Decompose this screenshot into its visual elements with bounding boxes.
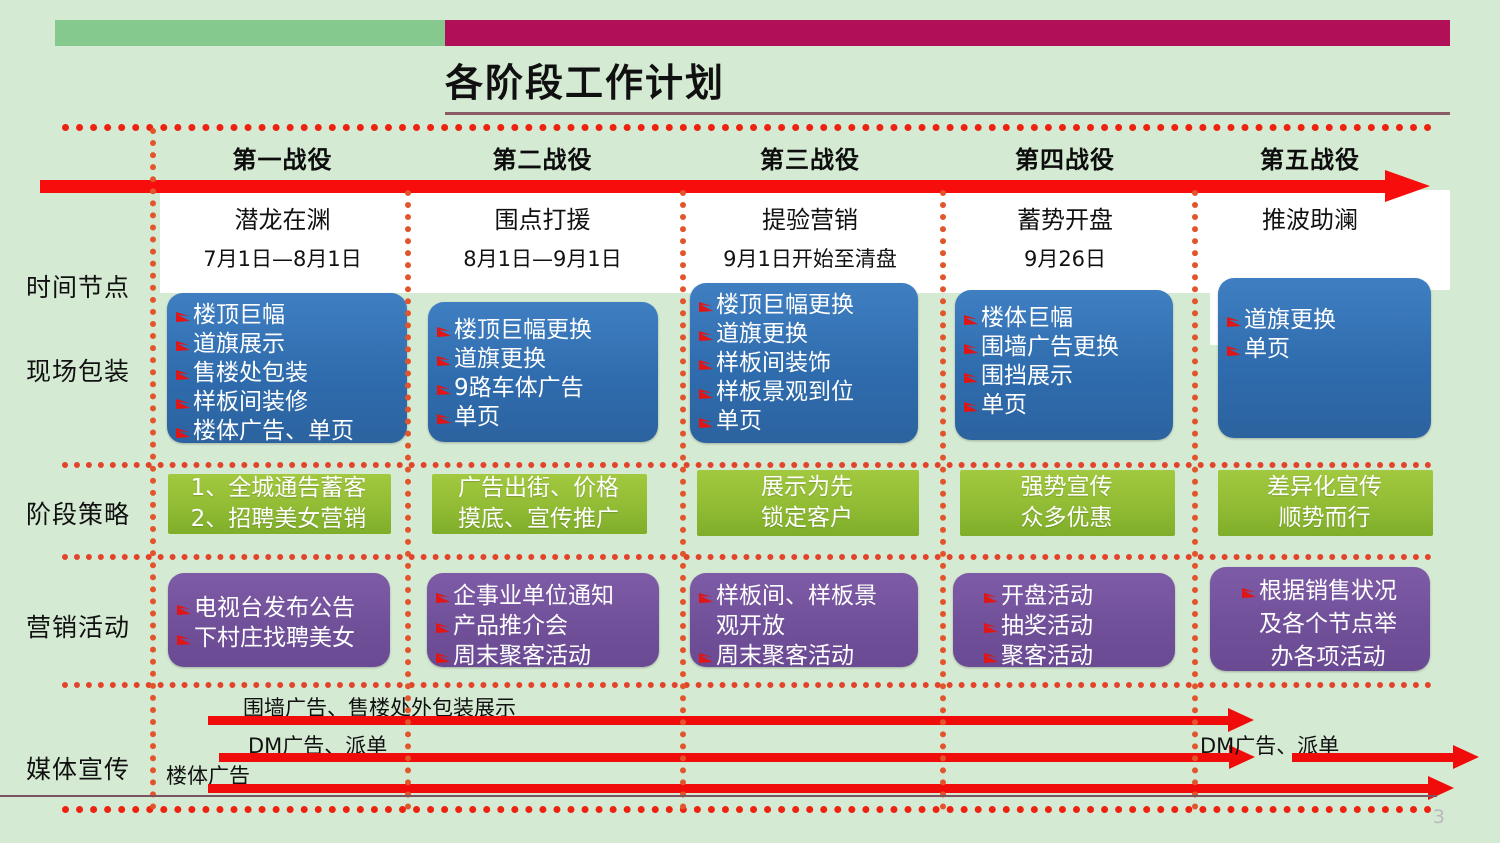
media-arrow-2-shaft <box>219 753 1231 762</box>
packaging-card-5[interactable]: 道旗更换 单页 <box>1218 278 1431 438</box>
page-title: 各阶段工作计划 <box>445 58 1065 110</box>
list-item: 道旗更换 <box>1226 306 1421 335</box>
column-separator-1 <box>405 190 411 810</box>
list-item: 单页 <box>1226 335 1421 364</box>
activities-card-4[interactable]: 开盘活动 抽奖活动 聚客活动 <box>953 573 1175 667</box>
list-item: 围墙广告更换 <box>963 333 1163 362</box>
arrow-bullet-icon <box>435 591 452 604</box>
list-item: 周末聚客活动 <box>698 641 908 671</box>
phase-header-5: 第五战役 <box>1190 140 1430 175</box>
list-item: 售楼处包装 <box>175 359 397 388</box>
phase-date-4: 9月26日 <box>940 243 1190 273</box>
arrow-bullet-icon <box>175 426 192 439</box>
row-label-activities: 营销活动 <box>8 608 148 644</box>
arrow-bullet-icon <box>983 621 1000 634</box>
matrix-top-border <box>62 124 1432 131</box>
media-arrow-3-shaft <box>208 784 1430 793</box>
list-item: 围挡展示 <box>963 362 1163 391</box>
list-item: 样板间、样板景 <box>698 581 908 611</box>
media-arrow-4-head <box>1453 745 1479 769</box>
divider-packaging-strategy <box>62 462 1432 468</box>
arrow-bullet-icon <box>176 633 193 646</box>
list-item: 楼体广告、单页 <box>175 417 397 446</box>
column-separator-3 <box>940 190 946 810</box>
arrow-bullet-icon <box>698 416 715 429</box>
strategy-line: 1、全城通告蓄客 <box>191 473 367 504</box>
list-item: 楼顶巨幅更换 <box>436 316 648 345</box>
arrow-bullet-icon <box>175 397 192 410</box>
arrow-bullet-icon <box>436 325 453 338</box>
phase-header-1: 第一战役 <box>160 140 405 175</box>
arrow-bullet-icon <box>436 412 453 425</box>
arrow-bullet-icon <box>175 339 192 352</box>
arrow-bullet-icon <box>436 383 453 396</box>
list-item: 楼体巨幅 <box>963 304 1163 333</box>
phase-header-4: 第四战役 <box>940 140 1190 175</box>
column-separator-4 <box>1192 190 1198 810</box>
media-arrow-1-shaft <box>208 716 1230 725</box>
strategy-line: 摸底、宣传推广 <box>458 504 619 535</box>
arrow-bullet-icon <box>698 651 715 664</box>
strategy-line: 顺势而行 <box>1279 503 1371 534</box>
arrow-bullet-icon <box>963 342 980 355</box>
list-item: 电视台发布公告 <box>176 593 380 623</box>
strategy-line: 强势宣传 <box>1021 472 1113 503</box>
timeline-arrow <box>40 176 1430 196</box>
arrow-bullet-icon <box>963 371 980 384</box>
arrow-bullet-icon <box>698 591 715 604</box>
title-underline <box>445 112 1450 115</box>
list-item: 周末聚客活动 <box>435 641 649 671</box>
row-label-packaging: 现场包装 <box>8 352 148 388</box>
strategy-line: 2、招聘美女营销 <box>191 504 367 535</box>
arrow-bullet-icon <box>698 358 715 371</box>
timeline-arrow-shaft <box>40 180 1390 193</box>
list-item: 样板间装修 <box>175 388 397 417</box>
list-item: 办各项活动 <box>1218 641 1420 674</box>
arrow-bullet-icon <box>175 368 192 381</box>
phase-date-3: 9月1日开始至清盘 <box>672 243 948 273</box>
arrow-bullet-icon <box>698 300 715 313</box>
row-label-time: 时间节点 <box>8 268 148 304</box>
strategy-card-1[interactable]: 1、全城通告蓄客 2、招聘美女营销 <box>168 474 391 534</box>
media-arrow-1-head <box>1228 708 1254 732</box>
matrix-bottom-border <box>62 806 1432 813</box>
column-separator-2 <box>680 190 686 810</box>
column-separator-0 <box>150 128 156 810</box>
list-item: 聚客活动 <box>983 641 1165 671</box>
arrow-bullet-icon <box>1241 586 1258 599</box>
arrow-bullet-icon <box>963 400 980 413</box>
packaging-card-1[interactable]: 楼顶巨幅 道旗展示 售楼处包装 样板间装修 楼体广告、单页 <box>167 293 407 443</box>
list-item: 楼顶巨幅更换 <box>698 291 908 320</box>
arrow-bullet-icon <box>698 329 715 342</box>
list-item: 产品推介会 <box>435 611 649 641</box>
footer-rule <box>0 795 1437 797</box>
phase-title-4: 蓄势开盘 <box>940 200 1190 235</box>
list-item: 及各个节点举 <box>1218 608 1420 641</box>
packaging-card-4[interactable]: 楼体巨幅 围墙广告更换 围挡展示 单页 <box>955 290 1173 440</box>
list-item: 样板间装饰 <box>698 349 908 378</box>
strategy-line: 广告出街、价格 <box>458 473 619 504</box>
arrow-bullet-icon <box>983 651 1000 664</box>
phase-date-1: 7月1日—8月1日 <box>160 243 405 273</box>
list-item: 根据销售状况 <box>1218 575 1420 608</box>
top-bar-green <box>55 20 445 46</box>
strategy-line: 众多优惠 <box>1021 503 1113 534</box>
list-item: 下村庄找聘美女 <box>176 623 380 653</box>
divider-activities-media <box>62 682 1432 688</box>
row-label-media: 媒体宣传 <box>8 750 148 786</box>
list-item: 单页 <box>436 403 648 432</box>
phase-date-2: 8月1日—9月1日 <box>405 243 680 273</box>
divider-strategy-activities <box>62 554 1432 560</box>
packaging-card-2[interactable]: 楼顶巨幅更换 道旗更换 9路车体广告 单页 <box>428 302 658 442</box>
slide-canvas: 各阶段工作计划 第一战役 第二战役 第三战役 第四战役 第五战役 潜龙在渊 围点… <box>0 0 1500 843</box>
phase-title-1: 潜龙在渊 <box>160 200 405 235</box>
arrow-bullet-icon <box>435 621 452 634</box>
list-item: 单页 <box>963 391 1163 420</box>
arrow-bullet-icon <box>176 603 193 616</box>
strategy-card-3[interactable]: 展示为先 锁定客户 <box>697 470 919 536</box>
phase-header-3: 第三战役 <box>680 140 940 175</box>
list-item: 抽奖活动 <box>983 611 1165 641</box>
strategy-line: 展示为先 <box>761 472 853 503</box>
arrow-bullet-icon <box>175 310 192 323</box>
strategy-line: 差异化宣传 <box>1267 472 1382 503</box>
list-item: 楼顶巨幅 <box>175 301 397 330</box>
list-item: 道旗更换 <box>698 320 908 349</box>
activities-card-1[interactable]: 电视台发布公告 下村庄找聘美女 <box>168 573 390 667</box>
arrow-bullet-icon <box>1226 315 1243 328</box>
phase-header-2: 第二战役 <box>405 140 680 175</box>
list-item: 单页 <box>698 407 908 436</box>
activities-card-3[interactable]: 样板间、样板景 观开放 周末聚客活动 <box>690 573 918 667</box>
phase-title-2: 围点打援 <box>405 200 680 235</box>
packaging-card-3[interactable]: 楼顶巨幅更换 道旗更换 样板间装饰 样板景观到位 单页 <box>690 283 918 443</box>
media-arrow-4-shaft <box>1292 753 1455 762</box>
row-label-strategy: 阶段策略 <box>8 495 148 531</box>
page-number: 3 <box>1433 806 1445 828</box>
list-item: 道旗展示 <box>175 330 397 359</box>
list-item: 样板景观到位 <box>698 378 908 407</box>
phase-title-3: 提验营销 <box>680 200 940 235</box>
strategy-card-2[interactable]: 广告出街、价格 摸底、宣传推广 <box>432 474 647 534</box>
activities-card-2[interactable]: 企事业单位通知 产品推介会 周末聚客活动 <box>427 573 659 667</box>
list-item: 观开放 <box>698 611 908 641</box>
arrow-bullet-icon <box>435 651 452 664</box>
arrow-bullet-icon <box>698 387 715 400</box>
strategy-line: 锁定客户 <box>761 503 853 534</box>
activities-card-5[interactable]: 根据销售状况 及各个节点举 办各项活动 <box>1210 567 1430 671</box>
strategy-card-5[interactable]: 差异化宣传 顺势而行 <box>1218 470 1433 536</box>
list-item: 开盘活动 <box>983 581 1165 611</box>
phase-title-5: 推波助澜 <box>1190 200 1430 235</box>
arrow-bullet-icon <box>983 591 1000 604</box>
arrow-bullet-icon <box>436 354 453 367</box>
top-bar-magenta <box>445 20 1450 46</box>
arrow-bullet-icon <box>963 313 980 326</box>
list-item: 道旗更换 <box>436 345 648 374</box>
strategy-card-4[interactable]: 强势宣传 众多优惠 <box>960 470 1175 536</box>
list-item: 企事业单位通知 <box>435 581 649 611</box>
list-item: 9路车体广告 <box>436 374 648 403</box>
arrow-bullet-icon <box>1226 344 1243 357</box>
